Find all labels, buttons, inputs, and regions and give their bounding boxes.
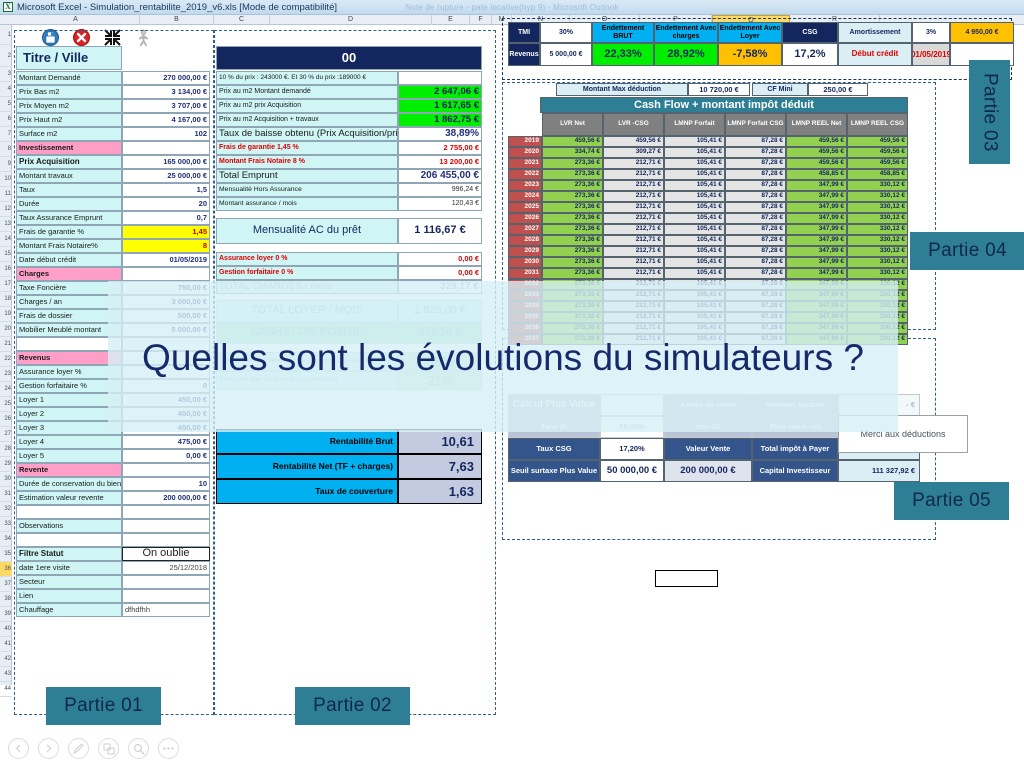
p01-value-23[interactable]: 450,00 € xyxy=(122,393,210,407)
p01-label-35: date 1ere visite xyxy=(16,561,122,575)
p01-label-12: Montant Frais Notaire% xyxy=(16,239,122,253)
p05-r0-c2: Année de vente xyxy=(664,394,752,416)
p02-renta-label-1: Rentabilité Net (TF + charges) xyxy=(216,454,398,479)
p03-cf-cell-1-0: 334,74 € xyxy=(542,147,603,158)
row-header-11: 11 xyxy=(0,187,12,202)
p03-cf-cell-0-5: 459,56 € xyxy=(847,136,908,147)
p01-value-4[interactable]: 102 xyxy=(122,127,210,141)
p02-renta-value-1: 7,63 xyxy=(398,454,482,479)
p01-label-36: Secteur xyxy=(16,575,122,589)
p03-cf-cell-16-4: 347,99 € xyxy=(786,312,847,323)
column-header-C[interactable]: C xyxy=(214,15,270,25)
p03-cf-cell-0-2: 105,41 € xyxy=(664,136,725,147)
p03-cf-cell-3-0: 273,36 € xyxy=(542,169,603,180)
p03-top2-6: Début crédit xyxy=(838,43,912,66)
row-header-42: 42 xyxy=(0,652,12,667)
row-header-19: 19 xyxy=(0,307,12,322)
p05-r2-c3: Total impôt à Payer xyxy=(752,438,838,460)
pages-icon[interactable] xyxy=(98,738,119,759)
p03-top2-4: -7,58% xyxy=(718,43,782,66)
p03-cf-cell-4-1: 212,71 € xyxy=(603,180,664,191)
p03-top1-3: Endettement Avec charges xyxy=(654,22,718,43)
p03-cf-year-13: 2032 xyxy=(508,279,542,290)
p01-value-30[interactable]: 200 000,00 € xyxy=(122,491,210,505)
p02-charge-value-1: 0,00 € xyxy=(398,266,482,280)
window-titlebar: X Microsoft Excel - Simulation_rentabili… xyxy=(0,0,1024,15)
row-header-36: 36 xyxy=(0,562,12,577)
p01-label-9: Durée xyxy=(16,197,122,211)
p01-label-5: Investissement xyxy=(16,141,122,155)
row-header-23: 23 xyxy=(0,367,12,382)
p01-label-16: Charges / an xyxy=(16,295,122,309)
p01-value-11[interactable]: 1,45 xyxy=(122,225,210,239)
p01-label-2: Prix Moyen m2 xyxy=(16,99,122,113)
p03-cf-cell-7-1: 212,71 € xyxy=(603,213,664,224)
p03-top2-7: 01/05/2019 xyxy=(912,43,950,66)
p03-cf-year-15: 2034 xyxy=(508,301,542,312)
p03-cf-cell-12-2: 105,41 € xyxy=(664,268,725,279)
p03-cf-cell-6-2: 105,41 € xyxy=(664,202,725,213)
p03-cf-year-4: 2023 xyxy=(508,180,542,191)
column-header-D[interactable]: D xyxy=(270,15,432,25)
p01-value-15[interactable]: 750,00 € xyxy=(122,281,210,295)
p03-top1-4: Endettement Avec Loyer xyxy=(718,22,782,43)
p02-value-9: 120,43 € xyxy=(398,197,482,211)
p01-label-1: Prix Bas m2 xyxy=(16,85,122,99)
empty-selection-box[interactable] xyxy=(655,570,718,587)
p01-value-31[interactable] xyxy=(122,505,210,519)
p03-top1-6: Amortissement xyxy=(838,22,912,43)
row-header-16: 16 xyxy=(0,262,12,277)
p03-cf-cell-12-5: 330,12 € xyxy=(847,268,908,279)
row-header-33: 33 xyxy=(0,517,12,532)
p01-label-18: Mobilier Meublé montant xyxy=(16,323,122,337)
p02-label-4: Taux de baisse obtenu (Prix Acquisition/… xyxy=(216,127,398,141)
p03-cf-cell-5-4: 347,99 € xyxy=(786,191,847,202)
p01-label-6: Prix Acquisition xyxy=(16,155,122,169)
partie-tag-04-label: Partie 04 xyxy=(928,240,1007,262)
p03-cf-cell-8-5: 330,12 € xyxy=(847,224,908,235)
p01-value-36[interactable] xyxy=(122,575,210,589)
column-header-F[interactable]: F xyxy=(470,15,492,25)
row-header-40: 40 xyxy=(0,622,12,637)
p01-label-27: Loyer 5 xyxy=(16,449,122,463)
p03-cf-col-4: LMNP REEL Net xyxy=(786,113,847,136)
p01-label-7: Montant travaux xyxy=(16,169,122,183)
p03-cf-cell-5-1: 212,71 € xyxy=(603,191,664,202)
p05-r0-c4: - € xyxy=(838,394,920,416)
p03-cf-cell-8-2: 105,41 € xyxy=(664,224,725,235)
p03-cf-year-9: 2028 xyxy=(508,235,542,246)
p01-value-8[interactable]: 1,5 xyxy=(122,183,210,197)
p03-cf-cell-15-1: 212,71 € xyxy=(603,301,664,312)
p03-cf-cell-6-3: 87,28 € xyxy=(725,202,786,213)
p03-cf-cell-13-3: 87,28 € xyxy=(725,279,786,290)
p01-value-35[interactable]: 25/12/2018 xyxy=(122,561,210,575)
p03-cf-col-0: LVR Net xyxy=(542,113,603,136)
p03-cf-cell-0-1: 459,56 € xyxy=(603,136,664,147)
p03-cf-cell-8-0: 273,36 € xyxy=(542,224,603,235)
search-icon[interactable] xyxy=(128,738,149,759)
p03-cf-cell-11-2: 105,41 € xyxy=(664,257,725,268)
p03-cf-cell-1-1: 309,27 € xyxy=(603,147,664,158)
p05-r3-c3: Capital Investisseur xyxy=(752,460,838,482)
row-header-43: 43 xyxy=(0,667,12,682)
slide-headline: Quelles sont les évolutions du simulateu… xyxy=(108,330,898,386)
row-header-39: 39 xyxy=(0,607,12,622)
column-header-B[interactable]: B xyxy=(140,15,214,25)
p03-cf-col-3: LMNP Forfait CSG xyxy=(725,113,786,136)
p03-cf-year-5: 2024 xyxy=(508,191,542,202)
p05-r1-c0: Taux IR xyxy=(508,416,600,438)
p03-cf-cell-6-1: 212,71 € xyxy=(603,202,664,213)
p03-cf-year-2: 2021 xyxy=(508,158,542,169)
row-header-7: 7 xyxy=(0,127,12,142)
pen-icon[interactable] xyxy=(68,738,89,759)
p03-cf-cell-3-3: 87,28 € xyxy=(725,169,786,180)
p01-value-0[interactable]: 270 000,00 € xyxy=(122,71,210,85)
p03-cf-cell-11-5: 330,12 € xyxy=(847,257,908,268)
p01-value-38[interactable]: dfhdfhh xyxy=(122,603,210,617)
p03-cf-cell-16-3: 87,28 € xyxy=(725,312,786,323)
p01-label-13: Date début crédit xyxy=(16,253,122,267)
p02-label-2: Prix au m2 prix Acquisition xyxy=(216,99,398,113)
p01-value-5[interactable] xyxy=(122,141,210,155)
p03-cf-cell-8-4: 347,99 € xyxy=(786,224,847,235)
p05-r2-c2: Valeur Vente xyxy=(664,438,752,460)
p05-r1-c2: mai-29 xyxy=(664,416,752,438)
p03-top2-0: Revenus xyxy=(508,43,540,66)
p03-cf-year-3: 2022 xyxy=(508,169,542,180)
p01-label-38: Chauffage xyxy=(16,603,122,617)
row-header-41: 41 xyxy=(0,637,12,652)
p01-label-31 xyxy=(16,505,122,519)
row-header-22: 22 xyxy=(0,352,12,367)
p03-cf-cell-16-0: 273,36 € xyxy=(542,312,603,323)
row-header-18: 18 xyxy=(0,292,12,307)
p03-cf-cell-3-2: 105,41 € xyxy=(664,169,725,180)
p03-cf-cell-10-2: 105,41 € xyxy=(664,246,725,257)
p01-label-32: Observations xyxy=(16,519,122,533)
p03-cf-cell-4-0: 273,36 € xyxy=(542,180,603,191)
p03-cf-cell-11-1: 212,71 € xyxy=(603,257,664,268)
p01-label-4: Surface m2 xyxy=(16,127,122,141)
p01-label-3: Prix Haut m2 xyxy=(16,113,122,127)
row-header-37: 37 xyxy=(0,577,12,592)
p03-cf-cell-7-0: 273,36 € xyxy=(542,213,603,224)
excel-logo-icon: X xyxy=(3,2,13,12)
p03-cf-cell-15-4: 347,99 € xyxy=(786,301,847,312)
p03-cf-cell-10-3: 87,28 € xyxy=(725,246,786,257)
p03-cf-col-5: LMNP REEL CSG xyxy=(847,113,908,136)
forward-icon[interactable] xyxy=(38,738,59,759)
p03-top2-5: 17,2% xyxy=(782,43,838,66)
p03-top1-2: Endettement BRUT xyxy=(592,22,654,43)
partie-tag-05-label: Partie 05 xyxy=(912,490,991,512)
p02-mensualite-value: 1 116,67 € xyxy=(398,218,482,244)
p03-cf-cell-4-2: 105,41 € xyxy=(664,180,725,191)
p01-value-24[interactable]: 450,00 € xyxy=(122,407,210,421)
row-header-28: 28 xyxy=(0,442,12,457)
p02-renta-label-2: Taux de couverture xyxy=(216,479,398,504)
row-header-31: 31 xyxy=(0,487,12,502)
p03-cf-cell-13-0: 273,36 € xyxy=(542,279,603,290)
row-header-29: 29 xyxy=(0,457,12,472)
p01-label-37: Lien xyxy=(16,589,122,603)
partie-tag-03-label: Partie 03 xyxy=(979,73,1001,152)
p01-label-0: Montant Demandé xyxy=(16,71,122,85)
p03-cf-cell-2-2: 105,41 € xyxy=(664,158,725,169)
p01-label-34: Filtre Statut xyxy=(16,547,122,561)
p03-cf-cell-13-5: 330,12 € xyxy=(847,279,908,290)
p03-cf-cell-15-3: 87,28 € xyxy=(725,301,786,312)
p01-label-19 xyxy=(16,337,122,351)
p05-r3-c0: Seuil surtaxe Plus Value xyxy=(508,460,600,482)
row-header-4: 4 xyxy=(0,82,12,97)
p02-total-value-0: 1 825,00 € xyxy=(398,300,482,322)
row-header-25: 25 xyxy=(0,397,12,412)
p01-value-10[interactable]: 0,7 xyxy=(122,211,210,225)
p03-cf-cell-4-5: 330,12 € xyxy=(847,180,908,191)
partie02-header-cell: 00 xyxy=(216,46,482,70)
p01-value-2[interactable]: 3 707,00 € xyxy=(122,99,210,113)
p03-cf-cell-15-0: 273,36 € xyxy=(542,301,603,312)
p03-cf-year-12: 2031 xyxy=(508,268,542,279)
p02-charge-value-0: 0,00 € xyxy=(398,252,482,266)
p01-label-29: Durée de conservation du bien (ans) xyxy=(16,477,122,491)
p01-label-15: Taxe Foncière xyxy=(16,281,122,295)
row-header-15: 15 xyxy=(0,247,12,262)
p03-cf-cell-11-0: 273,36 € xyxy=(542,257,603,268)
partie-tag-02: Partie 02 xyxy=(295,687,410,725)
p05-r1-c3: Plus value net xyxy=(752,416,838,438)
p02-mensualite-label: Mensualité AC du prêt xyxy=(216,218,398,244)
p01-value-27[interactable]: 0,00 € xyxy=(122,449,210,463)
p03-cf-cell-10-4: 347,99 € xyxy=(786,246,847,257)
p01-value-33[interactable] xyxy=(122,533,210,547)
p05-r0-c0: Calcul Plus Value xyxy=(508,394,600,416)
p03-cf-cell-13-2: 105,41 € xyxy=(664,279,725,290)
p03-cf-cell-1-5: 459,56 € xyxy=(847,147,908,158)
window-title-text: Microsoft Excel - Simulation_rentabilite… xyxy=(17,2,337,13)
p03-cf-cell-3-1: 212,71 € xyxy=(603,169,664,180)
p01-label-33 xyxy=(16,533,122,547)
partie-tag-04: Partie 04 xyxy=(910,232,1024,270)
row-header-27: 27 xyxy=(0,427,12,442)
p03-cf-cell-16-1: 212,71 € xyxy=(603,312,664,323)
p01-value-6[interactable]: 165 000,00 € xyxy=(122,155,210,169)
p01-label-21: Assurance loyer % xyxy=(16,365,122,379)
p03-cf-cell-15-5: 330,12 € xyxy=(847,301,908,312)
p03-cf-cell-5-3: 87,28 € xyxy=(725,191,786,202)
p01-value-9[interactable]: 20 xyxy=(122,197,210,211)
partie01-title-cell: Titre / Ville xyxy=(16,46,122,70)
p02-renta-value-0: 10,61 xyxy=(398,429,482,454)
p03-cf-year-10: 2029 xyxy=(508,246,542,257)
p02-value-0 xyxy=(398,71,482,85)
row-header-3: 3 xyxy=(0,67,12,82)
p02-label-0: 10 % du prix : 243000 €. Et 30 % du prix… xyxy=(216,71,398,85)
p02-charge-label-0: Assurance loyer 0 % xyxy=(216,252,398,266)
p03-cf-cell-7-2: 105,41 € xyxy=(664,213,725,224)
p03-cf-year-1: 2020 xyxy=(508,147,542,158)
p03-cf-cell-8-3: 87,28 € xyxy=(725,224,786,235)
p03-top1-7: 3% xyxy=(912,22,950,43)
p03-cf-year-11: 2030 xyxy=(508,257,542,268)
p01-value-12[interactable]: 8 xyxy=(122,239,210,253)
p02-value-4: 38,89% xyxy=(398,127,482,141)
row-header-38: 38 xyxy=(0,592,12,607)
p01-value-7[interactable]: 25 000,00 € xyxy=(122,169,210,183)
p03-cf-cell-14-5: 330,12 € xyxy=(847,290,908,301)
p03-top1-5: CSG xyxy=(782,22,838,43)
p03-deduction-label-0: Montant Max déduction xyxy=(556,83,688,96)
p03-cf-cell-6-5: 330,12 € xyxy=(847,202,908,213)
p03-cf-cell-13-4: 347,99 € xyxy=(786,279,847,290)
p01-label-11: Frais de garantie % xyxy=(16,225,122,239)
p05-r2-c0: Taux CSG xyxy=(508,438,600,460)
p02-value-2: 1 617,65 € xyxy=(398,99,482,113)
column-header-A[interactable]: A xyxy=(12,15,140,25)
p01-value-32[interactable] xyxy=(122,519,210,533)
row-header-6: 6 xyxy=(0,112,12,127)
p03-cf-cell-10-0: 273,36 € xyxy=(542,246,603,257)
p03-cf-cell-12-4: 347,99 € xyxy=(786,268,847,279)
p01-label-22: Gestion forfaitaire % xyxy=(16,379,122,393)
p01-label-17: Frais de dossier xyxy=(16,309,122,323)
p05-r3-c2: 200 000,00 € xyxy=(664,460,752,482)
row-header-34: 34 xyxy=(0,532,12,547)
p02-value-3: 1 862,75 € xyxy=(398,113,482,127)
column-header-E[interactable]: E xyxy=(432,15,470,25)
p03-deduction-value-1: 250,00 € xyxy=(808,83,868,96)
p01-label-25: Loyer 3 xyxy=(16,421,122,435)
p03-cf-cell-15-2: 105,41 € xyxy=(664,301,725,312)
row-header-14: 14 xyxy=(0,232,12,247)
p02-label-7: Total Emprunt xyxy=(216,169,398,183)
row-header-20: 20 xyxy=(0,322,12,337)
p03-cf-cell-7-3: 87,28 € xyxy=(725,213,786,224)
p03-cf-year-14: 2033 xyxy=(508,290,542,301)
p01-label-26: Loyer 4 xyxy=(16,435,122,449)
p01-value-16[interactable]: 3 000,00 € xyxy=(122,295,210,309)
p01-value-29[interactable]: 10 xyxy=(122,477,210,491)
p03-cf-cell-16-2: 105,41 € xyxy=(664,312,725,323)
p03-cf-cell-14-1: 212,71 € xyxy=(603,290,664,301)
p03-cf-year-6: 2025 xyxy=(508,202,542,213)
p03-cf-cell-2-0: 273,36 € xyxy=(542,158,603,169)
p02-label-1: Prix au m2 Montant demandé xyxy=(216,85,398,99)
p01-label-14: Charges xyxy=(16,267,122,281)
row-header-24: 24 xyxy=(0,382,12,397)
p05-r0-c3: Montant surtaxe xyxy=(752,394,838,416)
p03-cf-cell-9-5: 330,12 € xyxy=(847,235,908,246)
p01-value-34[interactable]: On oublie xyxy=(122,547,210,561)
p03-top2-1: 5 000,00 € xyxy=(540,43,592,66)
p02-charge-label-1: Gestion forfaitaire 0 % xyxy=(216,266,398,280)
p03-cf-col-2: LMNP Forfait xyxy=(664,113,725,136)
p01-value-1[interactable]: 3 134,00 € xyxy=(122,85,210,99)
p03-top1-1: 30% xyxy=(540,22,592,43)
row-header-32: 32 xyxy=(0,502,12,517)
partie-tag-03: Partie 03 xyxy=(969,60,1010,164)
p03-cf-cell-14-0: 273,36 € xyxy=(542,290,603,301)
p03-cf-cell-8-1: 212,71 € xyxy=(603,224,664,235)
p03-cf-cell-16-5: 330,12 € xyxy=(847,312,908,323)
row-header-8: 8 xyxy=(0,142,12,157)
row-header-1: 1 xyxy=(0,25,12,45)
p01-value-25[interactable]: 450,00 € xyxy=(122,421,210,435)
p02-label-5: Frais de garantie 1,45 % xyxy=(216,141,398,155)
p03-cf-cell-5-5: 330,12 € xyxy=(847,191,908,202)
back-icon[interactable] xyxy=(8,738,29,759)
p03-cf-cell-2-1: 212,71 € xyxy=(603,158,664,169)
p03-cashflow-title: Cash Flow + montant impôt déduit xyxy=(540,97,908,113)
row-header-21: 21 xyxy=(0,337,12,352)
row-header-44: 44 xyxy=(0,682,12,697)
p01-value-14[interactable] xyxy=(122,267,210,281)
p01-value-3[interactable]: 4 167,00 € xyxy=(122,113,210,127)
p02-label-9: Montant assurance / mois xyxy=(216,197,398,211)
p03-cf-year-0: 2019 xyxy=(508,136,542,147)
row-header-9: 9 xyxy=(0,157,12,172)
p03-cf-year-16: 2035 xyxy=(508,312,542,323)
p03-cf-cell-0-0: 459,56 € xyxy=(542,136,603,147)
more-icon[interactable] xyxy=(158,738,179,759)
p05-r3-c4: 111 327,92 € xyxy=(838,460,920,482)
p03-cf-cell-13-1: 212,71 € xyxy=(603,279,664,290)
p03-cf-cell-7-5: 330,12 € xyxy=(847,213,908,224)
p01-label-28: Revente xyxy=(16,463,122,477)
p03-cf-cell-3-5: 458,85 € xyxy=(847,169,908,180)
p01-value-17[interactable]: 500,00 € xyxy=(122,309,210,323)
p01-label-23: Loyer 1 xyxy=(16,393,122,407)
p03-cf-cell-14-4: 347,99 € xyxy=(786,290,847,301)
p02-value-1: 2 647,06 € xyxy=(398,85,482,99)
p03-cf-cell-12-1: 212,71 € xyxy=(603,268,664,279)
p03-cf-cell-3-4: 458,85 € xyxy=(786,169,847,180)
partie-tag-01: Partie 01 xyxy=(46,687,161,725)
p03-cf-cell-0-4: 459,56 € xyxy=(786,136,847,147)
p03-cf-cell-6-4: 347,99 € xyxy=(786,202,847,213)
p05-r0-c1 xyxy=(600,394,664,416)
p05-r1-c1: 19,00% xyxy=(600,416,664,438)
p01-value-26[interactable]: 475,00 € xyxy=(122,435,210,449)
p03-top1-8: 4 950,00 € xyxy=(950,22,1014,43)
p03-cf-cell-6-0: 273,36 € xyxy=(542,202,603,213)
p03-cf-cell-4-4: 347,99 € xyxy=(786,180,847,191)
p02-charge-label-2: TOTAL CHARGES / mois xyxy=(216,280,398,294)
p03-cf-cell-11-4: 347,99 € xyxy=(786,257,847,268)
p01-value-37[interactable] xyxy=(122,589,210,603)
p01-value-28[interactable] xyxy=(122,463,210,477)
p01-label-30: Estimation valeur revente xyxy=(16,491,122,505)
p03-deduction-value-0: 10 720,00 € xyxy=(688,83,750,96)
p02-value-6: 13 200,00 € xyxy=(398,155,482,169)
p05-note: Merci aux déductions xyxy=(838,415,968,453)
p03-cf-cell-5-2: 105,41 € xyxy=(664,191,725,202)
p02-value-5: 2 755,00 € xyxy=(398,141,482,155)
p03-cf-year-8: 2027 xyxy=(508,224,542,235)
p03-cf-cell-4-3: 87,28 € xyxy=(725,180,786,191)
p03-top1-0: TMI xyxy=(508,22,540,43)
p03-cf-cell-11-3: 87,28 € xyxy=(725,257,786,268)
p01-label-20: Revenus xyxy=(16,351,122,365)
p01-value-13[interactable]: 01/05/2019 xyxy=(122,253,210,267)
p03-cf-cell-7-4: 347,99 € xyxy=(786,213,847,224)
row-header-10: 10 xyxy=(0,172,12,187)
p03-cf-cell-2-4: 459,56 € xyxy=(786,158,847,169)
